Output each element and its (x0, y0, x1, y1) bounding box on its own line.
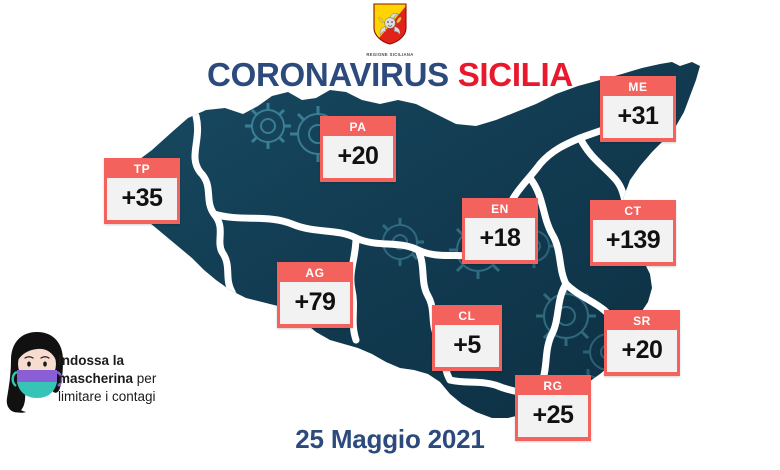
province-box-pa[interactable]: PA +20 (320, 116, 396, 182)
province-code-tp: TP (107, 161, 177, 178)
province-box-me[interactable]: ME +31 (600, 76, 676, 142)
mask-notice-line1: Indossa la (58, 352, 228, 370)
province-box-cl[interactable]: CL +5 (432, 305, 502, 371)
province-box-ct[interactable]: CT +139 (590, 200, 676, 266)
province-code-ag: AG (280, 265, 350, 282)
province-value-en: +18 (465, 218, 535, 260)
date-label: 25 Maggio 2021 (0, 424, 780, 455)
province-box-en[interactable]: EN +18 (462, 198, 538, 264)
province-box-tp[interactable]: TP +35 (104, 158, 180, 224)
mask-notice-line2-bold: mascherina (58, 371, 133, 386)
mask-notice-text: Indossa la mascherina per limitare i con… (58, 352, 228, 406)
province-code-pa: PA (323, 119, 393, 136)
province-code-ct: CT (593, 203, 673, 220)
mask-notice-line2: mascherina per (58, 370, 228, 388)
province-code-cl: CL (435, 308, 499, 325)
province-value-cl: +5 (435, 325, 499, 367)
province-code-rg: RG (518, 378, 588, 395)
province-value-tp: +35 (107, 178, 177, 220)
province-code-me: ME (603, 79, 673, 96)
province-value-me: +31 (603, 96, 673, 138)
province-value-ct: +139 (593, 220, 673, 262)
province-code-en: EN (465, 201, 535, 218)
mask-notice-line2-rest: per (133, 371, 156, 386)
mask-notice-line3: limitare i contagi (58, 388, 228, 406)
province-value-ag: +79 (280, 282, 350, 324)
province-value-sr: +20 (607, 330, 677, 372)
infographic-root: REGIONE SICILIANA CORONAVIRUS SICILIA (0, 0, 780, 470)
province-box-sr[interactable]: SR +20 (604, 310, 680, 376)
mask-notice-line1-bold: Indossa la (58, 353, 124, 368)
province-code-sr: SR (607, 313, 677, 330)
province-value-pa: +20 (323, 136, 393, 178)
province-box-ag[interactable]: AG +79 (277, 262, 353, 328)
